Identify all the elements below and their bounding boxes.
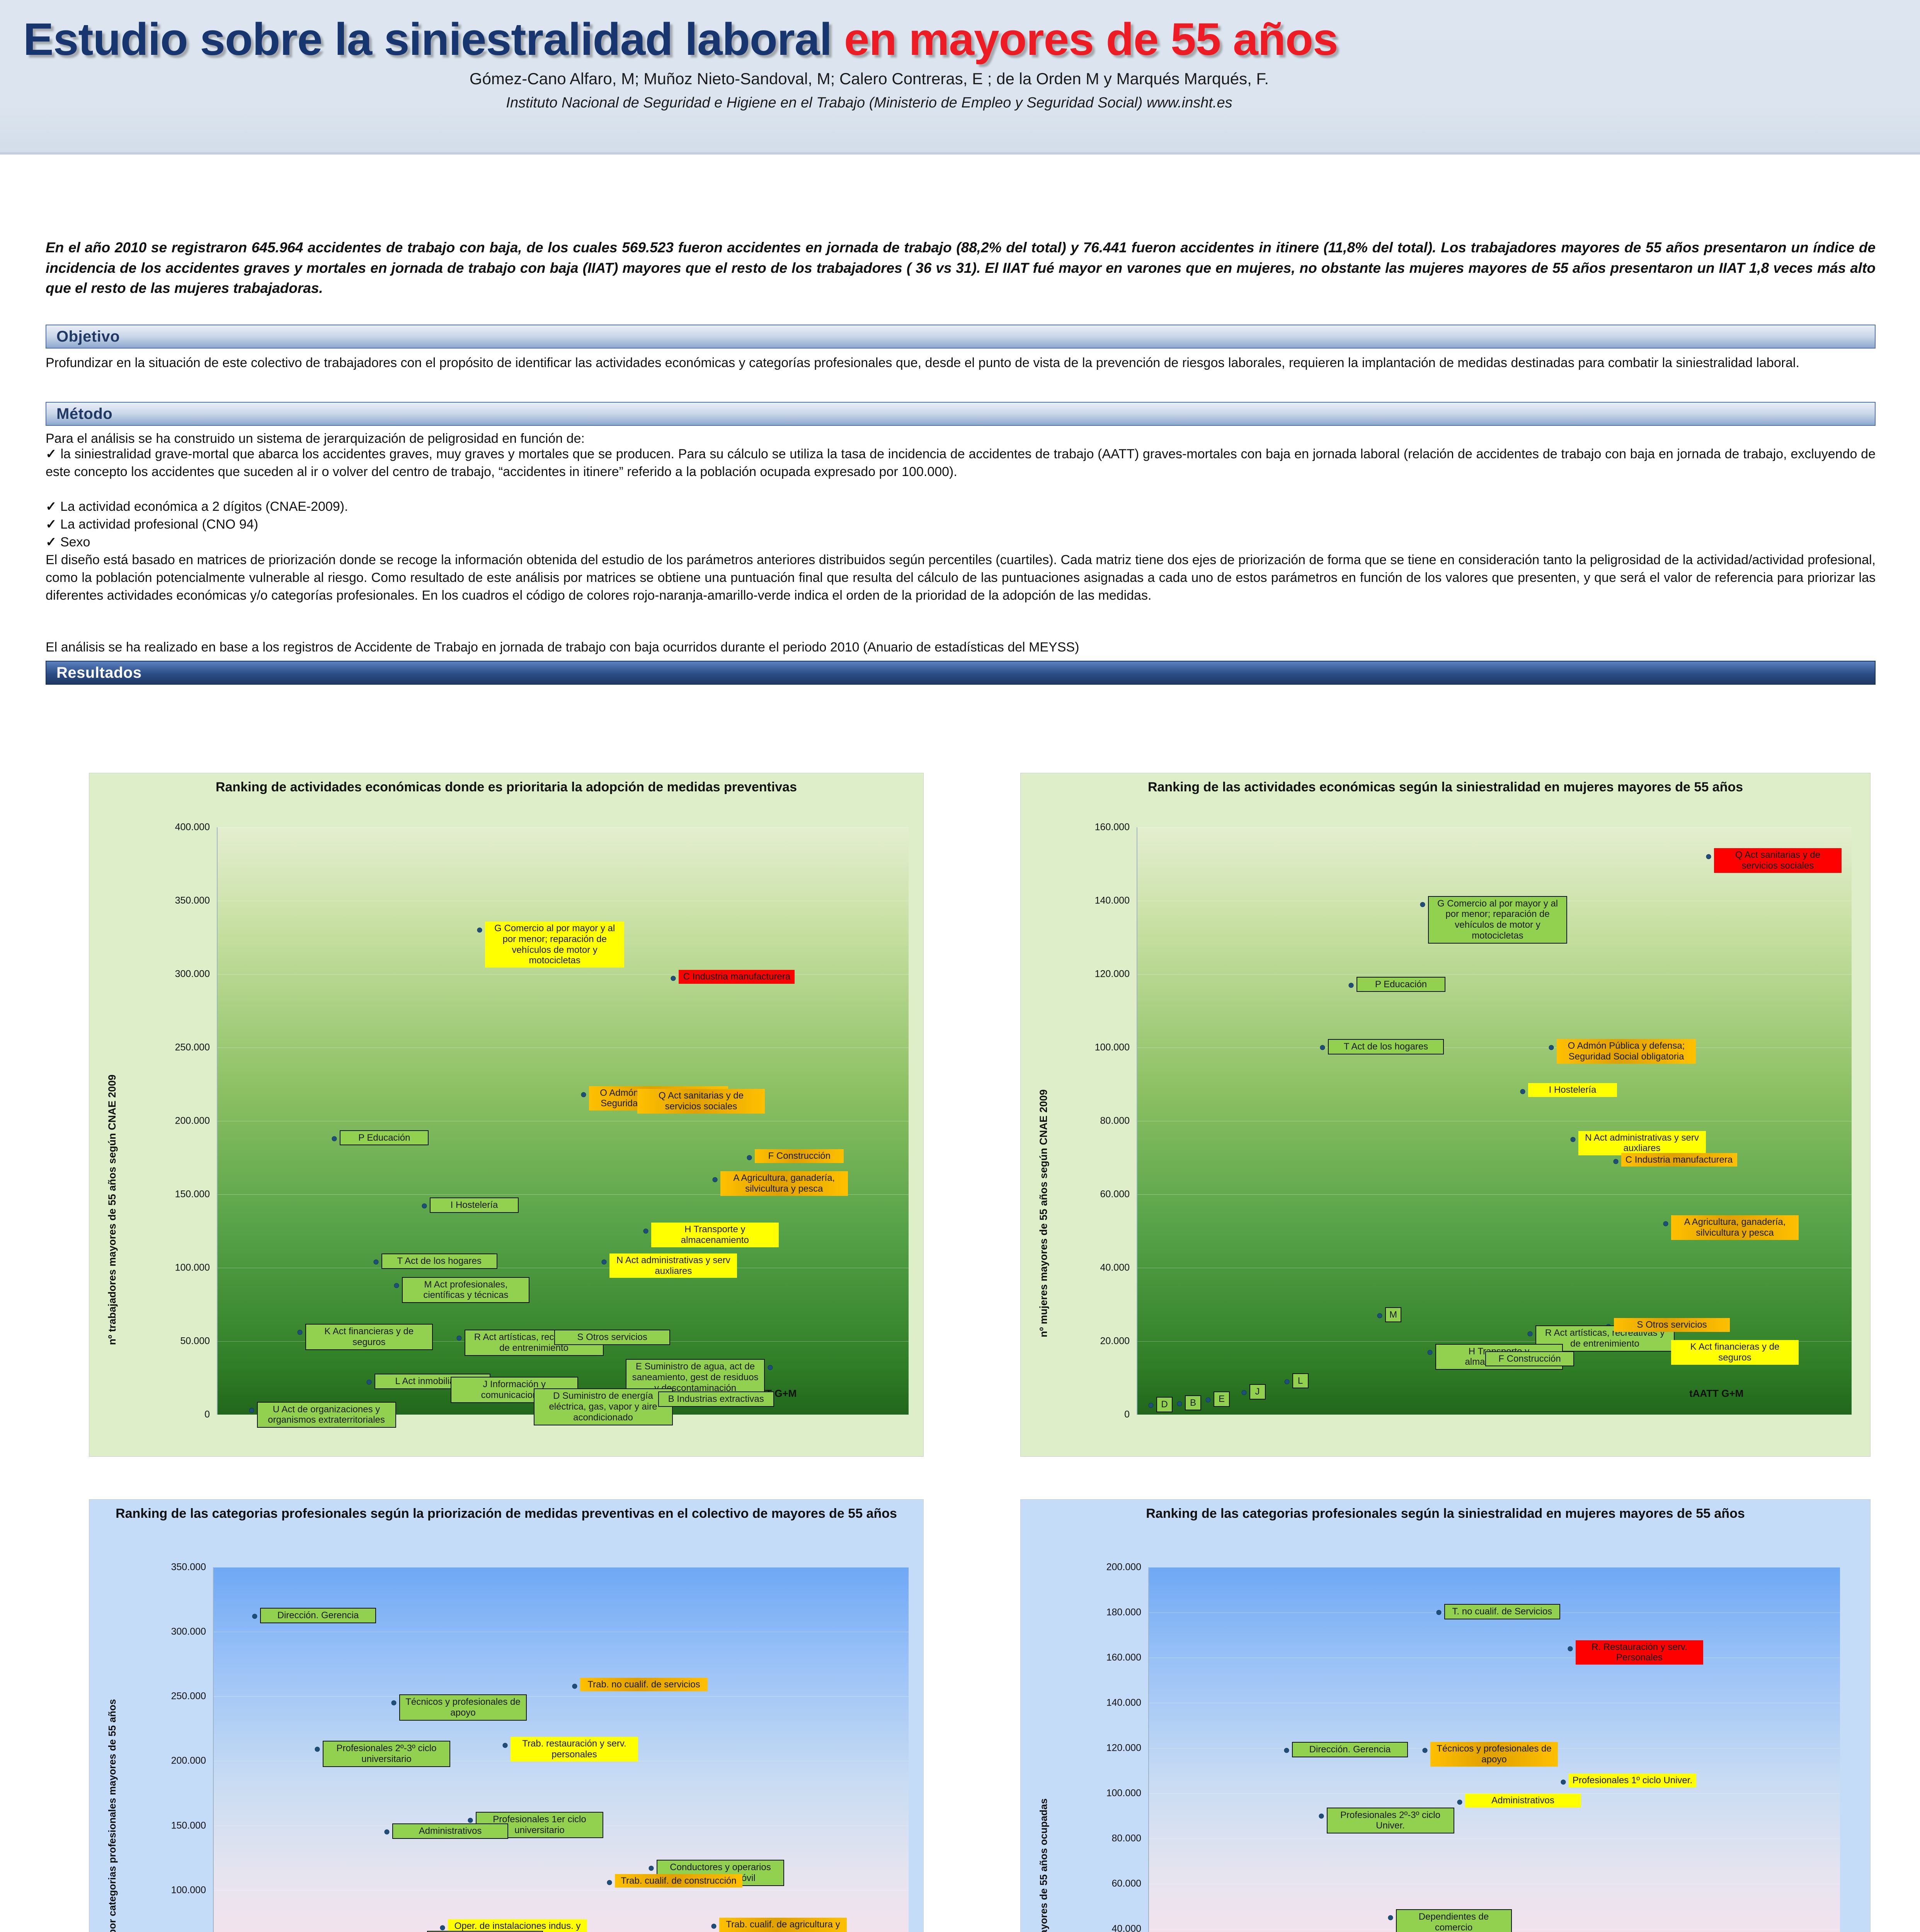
y-tick-label: 50.000 xyxy=(109,1336,210,1347)
data-point-label: Trab. no cualif. de servicios xyxy=(580,1678,708,1692)
data-point xyxy=(503,1743,508,1748)
y-tick-label: 40.000 xyxy=(1041,1923,1141,1932)
y-tick-label: 200.000 xyxy=(109,1116,210,1127)
data-point-label: B xyxy=(1185,1395,1201,1411)
gridline xyxy=(217,827,909,828)
y-tick-label: 250.000 xyxy=(109,1042,210,1053)
data-point xyxy=(747,1155,752,1160)
y-tick-label: 20.000 xyxy=(1029,1336,1130,1347)
gridline xyxy=(217,901,909,901)
data-point xyxy=(394,1283,399,1288)
chart-ranking-categorias-mujeres[interactable]: Ranking de las categorias profesionales … xyxy=(1020,1499,1871,1932)
check-icon: ✓ xyxy=(46,517,60,532)
data-point-label: D xyxy=(1156,1397,1173,1412)
data-point xyxy=(456,1336,461,1341)
data-point xyxy=(385,1830,390,1835)
data-point xyxy=(1319,1813,1324,1818)
data-point-label: Administrativos xyxy=(1465,1794,1581,1808)
metodo-bullet-4: ✓ Sexo xyxy=(46,533,1876,551)
y-tick-label: 150.000 xyxy=(106,1820,206,1831)
data-point xyxy=(572,1684,577,1689)
gridline xyxy=(1137,1048,1852,1048)
data-point xyxy=(1149,1403,1154,1408)
y-tick-label: 0 xyxy=(1029,1409,1130,1420)
chart-ranking-categorias-profesionales[interactable]: Ranking de las categorias profesionales … xyxy=(89,1499,924,1932)
data-point-label: L xyxy=(1292,1373,1309,1389)
y-tick-label: 140.000 xyxy=(1029,895,1130,906)
gridline xyxy=(217,1121,909,1121)
section-header-resultados: Resultados xyxy=(46,661,1876,685)
gridline xyxy=(213,1567,909,1568)
data-point xyxy=(643,1229,648,1234)
data-point-label: H Transporte y almacenamiento xyxy=(651,1223,779,1247)
metodo-bullet-3-text: La actividad profesional (CNO 94) xyxy=(60,517,258,532)
chart1-title: Ranking de actividades económicas donde … xyxy=(89,773,923,795)
data-point xyxy=(1388,1915,1393,1920)
gridline xyxy=(1137,1268,1852,1268)
data-point xyxy=(315,1747,320,1752)
data-point-label: Profesionales 2º-3º ciclo Univer. xyxy=(1327,1808,1454,1834)
data-point-label: Trab. cualif. de construcción xyxy=(615,1874,742,1888)
y-tick-label: 60.000 xyxy=(1041,1878,1141,1889)
section-header-metodo: Método xyxy=(46,402,1876,426)
metodo-bullet-2-text: La actividad económica a 2 dígitos (CNAE… xyxy=(60,499,348,514)
data-point-label: Q Act sanitarias y de servicios sociales xyxy=(1714,848,1842,873)
data-point-label: Trab. restauración y serv. personales xyxy=(511,1737,638,1762)
data-point-label: F Construcción xyxy=(1485,1351,1574,1367)
y-tick-label: 120.000 xyxy=(1041,1743,1141,1754)
gridline xyxy=(1148,1567,1840,1568)
metodo-bullet-4-text: Sexo xyxy=(60,535,90,549)
data-point-label: Dirección. Gerencia xyxy=(1292,1742,1408,1757)
data-point-label: N Act administrativas y serv auxliares xyxy=(609,1253,737,1278)
gridline xyxy=(1137,974,1852,975)
data-point-label: Administrativos xyxy=(392,1823,508,1839)
data-point xyxy=(332,1136,337,1141)
data-point-label: Técnicos y profesionales de apoyo xyxy=(1430,1742,1558,1767)
data-point-label: R. Restauración y serv. Personales xyxy=(1576,1640,1703,1665)
data-point-label: T. no cualif. de Servicios xyxy=(1444,1604,1560,1619)
data-point xyxy=(373,1259,378,1264)
data-point xyxy=(607,1880,612,1885)
page-title: Estudio sobre la siniestralidad laboral … xyxy=(23,13,1724,66)
data-point-label: C Industria manufacturera xyxy=(679,970,795,984)
gridline xyxy=(1148,1703,1840,1703)
data-point-label: M Act profesionales, científicas y técni… xyxy=(402,1277,529,1303)
data-point xyxy=(711,1924,717,1929)
data-point-label: Técnicos y profesionales de apoyo xyxy=(399,1694,527,1721)
metodo-paragraph-3: El análisis se ha realizado en base a lo… xyxy=(46,638,1876,656)
y-tick-label: 200.000 xyxy=(106,1755,206,1767)
data-point xyxy=(1177,1401,1182,1406)
y-tick-label: 100.000 xyxy=(1029,1042,1130,1053)
data-point xyxy=(1568,1646,1573,1651)
data-point-label: F Construcción xyxy=(755,1149,844,1163)
y-tick-label: 150.000 xyxy=(109,1189,210,1200)
gridline xyxy=(217,1268,909,1268)
y-tick-label: 100.000 xyxy=(1041,1788,1141,1799)
y-tick-label: 80.000 xyxy=(1029,1116,1130,1127)
chart-ranking-actividades-mujeres[interactable]: Ranking de las actividades económicas se… xyxy=(1020,773,1871,1457)
data-point xyxy=(422,1204,427,1209)
y-tick-label: 350.000 xyxy=(106,1562,206,1573)
gridline xyxy=(217,974,909,975)
gridline xyxy=(1148,1658,1840,1658)
y-axis-line xyxy=(217,827,218,1415)
data-point xyxy=(1377,1313,1382,1318)
poster-body: En el año 2010 se registraron 645.964 ac… xyxy=(0,155,1920,1932)
data-point xyxy=(1527,1332,1532,1337)
y-axis-line xyxy=(1137,827,1137,1415)
data-point xyxy=(1561,1779,1566,1784)
metodo-bullet-1: ✓ la siniestralidad grave-mortal que aba… xyxy=(46,445,1876,481)
data-point-label: Profesionales 2º-3º ciclo universitario xyxy=(323,1741,450,1767)
gridline xyxy=(1148,1884,1840,1884)
data-point xyxy=(1457,1800,1462,1805)
data-point xyxy=(366,1380,371,1385)
title-highlight: en mayores de 55 años xyxy=(844,14,1338,65)
data-point xyxy=(671,976,676,981)
data-point-label: S Otros servicios xyxy=(1614,1318,1730,1332)
data-point xyxy=(712,1177,717,1182)
metodo-paragraph-2: El diseño está basado en matrices de pri… xyxy=(46,551,1876,605)
data-point xyxy=(1613,1159,1618,1164)
data-point xyxy=(768,1365,773,1370)
data-point-label: D Suministro de energía eléctrica, gas, … xyxy=(534,1388,673,1425)
data-point-label: T Act de los hogares xyxy=(1328,1039,1444,1054)
data-point-label: Trab. cualif. de agricultura y pesca xyxy=(719,1918,847,1932)
data-point xyxy=(1284,1748,1289,1753)
y-tick-label: 350.000 xyxy=(109,895,210,906)
data-point-label: B Industrias extractivas xyxy=(658,1391,774,1407)
check-icon: ✓ xyxy=(46,499,60,514)
chart-ranking-actividades-economicas[interactable]: Ranking de actividades económicas donde … xyxy=(89,773,924,1457)
chart3-y-axis-label: nº ocupados por categorias profesionales… xyxy=(106,1699,118,1932)
poster-header: Estudio sobre la siniestralidad laboral … xyxy=(0,0,1920,155)
y-tick-label: 200.000 xyxy=(1041,1562,1141,1573)
affiliation-line: Instituto Nacional de Seguridad e Higien… xyxy=(0,95,1920,111)
metodo-bullet-1-text: la siniestralidad grave-mortal que abarc… xyxy=(46,447,1876,479)
gridline xyxy=(1148,1838,1840,1839)
data-point-label: O Admón Pública y defensa; Seguridad Soc… xyxy=(1557,1039,1696,1064)
data-point-label: G Comercio al por mayor y al por menor; … xyxy=(485,922,624,968)
data-point-label: Q Act sanitarias y de servicios sociales xyxy=(637,1089,765,1114)
metodo-bullet-2: ✓ La actividad económica a 2 dígitos (CN… xyxy=(46,498,1876,515)
chart4-y-axis-label: nº mujeres mayores de 55 años ocupadas xyxy=(1038,1798,1050,1932)
data-point xyxy=(252,1614,257,1619)
data-point-label: J xyxy=(1249,1384,1266,1400)
chart2-y-axis-label: nº mujeres mayores de 55 años según CNAE… xyxy=(1038,1089,1050,1337)
data-point xyxy=(1320,1045,1325,1050)
y-tick-label: 160.000 xyxy=(1029,822,1130,833)
data-point xyxy=(1663,1221,1668,1226)
gridline xyxy=(213,1632,909,1632)
y-tick-label: 120.000 xyxy=(1029,969,1130,980)
data-point-label: S Otros servicios xyxy=(554,1330,670,1345)
y-axis-line xyxy=(213,1567,214,1932)
check-icon: ✓ xyxy=(46,535,60,549)
data-point-label: I Hostelería xyxy=(430,1197,519,1213)
data-point xyxy=(477,928,482,933)
data-point xyxy=(1427,1350,1432,1355)
data-point xyxy=(249,1408,254,1413)
data-point-label: G Comercio al por mayor y al por menor; … xyxy=(1428,896,1567,944)
data-point-label: Dirección. Gerencia xyxy=(260,1608,376,1623)
objetivo-text: Profundizar en la situación de este cole… xyxy=(46,354,1876,372)
chart2-title: Ranking de las actividades económicas se… xyxy=(1021,773,1870,795)
data-point xyxy=(297,1330,302,1335)
y-tick-label: 100.000 xyxy=(109,1262,210,1274)
chart2-x-axis-label: tAATT G+M xyxy=(1689,1388,1743,1400)
data-point-label: E xyxy=(1214,1391,1230,1407)
y-tick-label: 0 xyxy=(109,1409,210,1420)
data-point xyxy=(1420,902,1425,907)
y-axis-line xyxy=(1148,1567,1149,1932)
data-point xyxy=(581,1092,586,1097)
gridline xyxy=(1137,1121,1852,1121)
data-point-label: P Educación xyxy=(340,1130,429,1146)
title-main: Estudio sobre la siniestralidad laboral xyxy=(23,14,844,65)
y-tick-label: 60.000 xyxy=(1029,1189,1130,1200)
data-point xyxy=(1284,1379,1289,1384)
data-point xyxy=(1206,1398,1211,1403)
data-point xyxy=(602,1259,607,1264)
section-header-objetivo: Objetivo xyxy=(46,325,1876,349)
chart3-title: Ranking de las categorias profesionales … xyxy=(89,1500,923,1522)
intro-paragraph: En el año 2010 se registraron 645.964 ac… xyxy=(46,238,1876,299)
gridline xyxy=(1137,827,1852,828)
data-point xyxy=(1520,1089,1525,1094)
data-point-label: T Act de los hogares xyxy=(381,1253,497,1269)
data-point-label: K Act financieras y de seguros xyxy=(305,1324,433,1350)
data-point-label: P Educación xyxy=(1357,977,1445,992)
data-point-label: I Hostelería xyxy=(1528,1083,1617,1097)
data-point xyxy=(1423,1748,1428,1753)
data-point xyxy=(1349,983,1354,988)
data-point xyxy=(440,1925,445,1930)
data-point-label: Dependientes de comercio xyxy=(1396,1909,1512,1932)
data-point-label: M xyxy=(1385,1307,1401,1323)
y-tick-label: 400.000 xyxy=(109,822,210,833)
data-point-label: Oper. de instalaciones indus. y maquinar… xyxy=(448,1919,587,1932)
data-point xyxy=(391,1701,397,1706)
data-point-label: U Act de organizaciones y organismos ext… xyxy=(257,1402,396,1428)
data-point-label: A Agricultura, ganadería, silvicultura y… xyxy=(1671,1215,1799,1240)
gridline xyxy=(213,1890,909,1891)
data-point-label: A Agricultura, ganadería, silvicultura y… xyxy=(720,1171,848,1196)
data-point xyxy=(1570,1137,1575,1142)
y-tick-label: 300.000 xyxy=(106,1626,206,1638)
metodo-bullet-3: ✓ La actividad profesional (CNO 94) xyxy=(46,515,1876,533)
authors-line: Gómez-Cano Alfaro, M; Muñoz Nieto-Sandov… xyxy=(0,70,1920,88)
gridline xyxy=(213,1696,909,1697)
y-tick-label: 160.000 xyxy=(1041,1652,1141,1663)
data-point xyxy=(468,1818,473,1823)
data-point-label: Profesionales 1º ciclo Univer. xyxy=(1569,1774,1696,1787)
data-point xyxy=(1436,1610,1441,1615)
y-tick-label: 300.000 xyxy=(109,969,210,980)
y-tick-label: 100.000 xyxy=(106,1884,206,1896)
data-point-label: N Act administrativas y serv auxliares xyxy=(1578,1131,1706,1156)
data-point xyxy=(1549,1045,1554,1050)
data-point-label: K Act financieras y de seguros xyxy=(1671,1340,1799,1365)
data-point xyxy=(1706,854,1711,859)
chart4-title: Ranking de las categorias profesionales … xyxy=(1021,1500,1870,1522)
y-tick-label: 40.000 xyxy=(1029,1262,1130,1274)
gridline xyxy=(1137,1194,1852,1195)
y-tick-label: 180.000 xyxy=(1041,1607,1141,1618)
data-point-label: C Industria manufacturera xyxy=(1621,1153,1737,1167)
check-icon: ✓ xyxy=(46,447,61,461)
gridline xyxy=(217,1048,909,1048)
data-point xyxy=(649,1866,654,1871)
data-point xyxy=(1241,1390,1246,1395)
y-tick-label: 140.000 xyxy=(1041,1697,1141,1709)
y-tick-label: 80.000 xyxy=(1041,1833,1141,1844)
y-tick-label: 250.000 xyxy=(106,1691,206,1702)
